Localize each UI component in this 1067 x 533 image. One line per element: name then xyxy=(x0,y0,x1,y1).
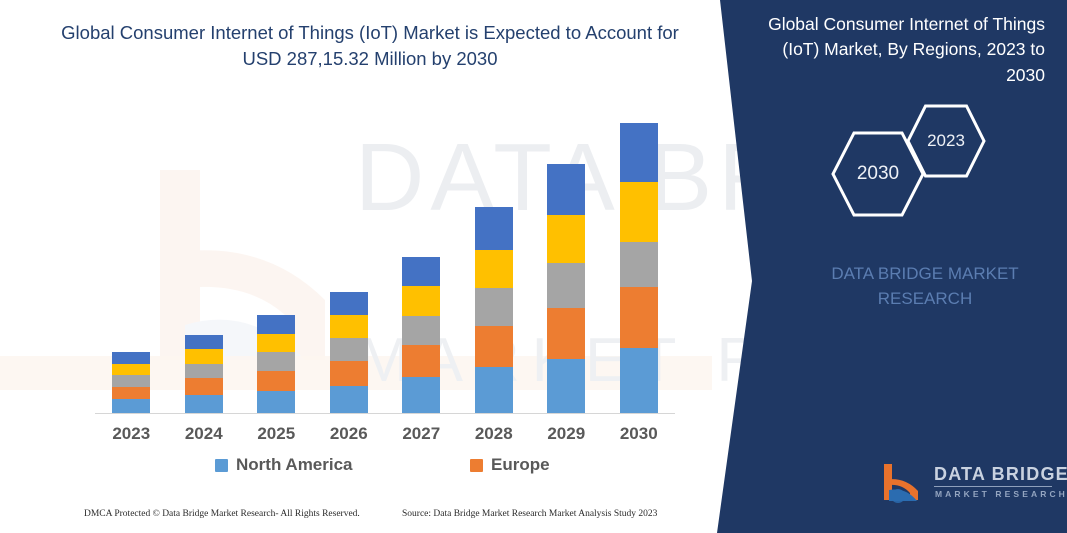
legend-label: North America xyxy=(236,455,353,475)
x-axis-label-2023: 2023 xyxy=(93,424,169,444)
x-axis-label-2030: 2030 xyxy=(601,424,677,444)
legend-label: Europe xyxy=(491,455,550,475)
logo-title: DATA BRIDGE xyxy=(934,464,1067,485)
bar-2025[interactable] xyxy=(257,315,295,413)
bar-segment xyxy=(620,242,658,287)
bar-segment xyxy=(185,364,223,379)
chart-title: Global Consumer Internet of Things (IoT)… xyxy=(60,20,680,73)
bar-2029[interactable] xyxy=(547,164,585,413)
bar-segment xyxy=(185,395,223,413)
x-axis-label-2028: 2028 xyxy=(456,424,532,444)
bar-segment xyxy=(185,378,223,395)
logo-divider xyxy=(934,486,1052,487)
bar-segment xyxy=(475,250,513,289)
panel-title: Global Consumer Internet of Things (IoT)… xyxy=(745,12,1045,88)
bar-segment xyxy=(547,308,585,358)
bar-segment xyxy=(185,335,223,350)
bar-segment xyxy=(112,399,150,413)
bar-segment xyxy=(547,263,585,308)
bar-2027[interactable] xyxy=(402,257,440,413)
bar-segment xyxy=(185,349,223,364)
bar-2030[interactable] xyxy=(620,123,658,413)
legend-swatch-icon xyxy=(470,459,483,472)
hexagon-2023-label: 2023 xyxy=(927,131,965,151)
panel-brand-text: DATA BRIDGE MARKET RESEARCH xyxy=(800,262,1050,311)
x-axis-label-2029: 2029 xyxy=(528,424,604,444)
x-axis-label-2027: 2027 xyxy=(383,424,459,444)
panel-brand-line-2: RESEARCH xyxy=(800,287,1050,312)
bar-segment xyxy=(475,288,513,326)
x-axis-label-2026: 2026 xyxy=(311,424,387,444)
x-axis-label-2024: 2024 xyxy=(166,424,242,444)
infographic-slide: DATA BRIDGE MARKET RESEARCH Global Consu… xyxy=(0,0,1067,533)
bar-segment xyxy=(112,364,150,376)
legend-item-europe[interactable]: Europe xyxy=(470,455,550,475)
bar-2024[interactable] xyxy=(185,335,223,413)
bar-segment xyxy=(547,359,585,413)
x-axis-labels: 20232024202520262027202820292030 xyxy=(95,424,675,452)
chart-legend: North AmericaEurope xyxy=(95,455,675,481)
bar-segment xyxy=(547,164,585,215)
bar-segment xyxy=(402,286,440,315)
bar-2028[interactable] xyxy=(475,207,513,413)
legend-swatch-icon xyxy=(215,459,228,472)
chart-plot-area xyxy=(95,100,675,414)
bar-segment xyxy=(257,334,295,353)
bar-segment xyxy=(330,386,368,413)
legend-item-north-america[interactable]: North America xyxy=(215,455,353,475)
bar-segment xyxy=(257,371,295,391)
bar-segment xyxy=(112,387,150,400)
bar-segment xyxy=(112,352,150,364)
bar-segment xyxy=(547,215,585,263)
bar-segment xyxy=(257,352,295,371)
company-logo: DATA BRIDGE MARKET RESEARCH xyxy=(878,458,1058,510)
bar-segment xyxy=(475,326,513,367)
bar-2026[interactable] xyxy=(330,292,368,413)
x-axis-line xyxy=(95,413,675,414)
bar-segment xyxy=(402,377,440,413)
hexagon-2030-label: 2030 xyxy=(857,163,899,185)
hexagon-group: 2023 2030 xyxy=(820,100,1030,220)
bar-segment xyxy=(330,361,368,386)
bar-segment xyxy=(257,315,295,334)
bar-2023[interactable] xyxy=(112,352,150,413)
bar-segment xyxy=(620,287,658,348)
bar-segment xyxy=(330,292,368,315)
bar-segment xyxy=(112,375,150,387)
logo-subtitle: MARKET RESEARCH xyxy=(935,489,1067,499)
bar-segment xyxy=(257,391,295,413)
bar-segment xyxy=(620,182,658,243)
bar-segment xyxy=(620,348,658,413)
bar-segment xyxy=(330,315,368,338)
panel-brand-line-1: DATA BRIDGE MARKET xyxy=(800,262,1050,287)
bar-segment xyxy=(402,345,440,377)
bar-segment xyxy=(475,367,513,413)
bar-segment xyxy=(330,338,368,361)
footer-copyright: DMCA Protected © Data Bridge Market Rese… xyxy=(84,509,360,519)
data-bridge-logo-icon xyxy=(878,460,926,506)
bar-segment xyxy=(402,316,440,345)
bar-segment xyxy=(402,257,440,286)
bar-segment xyxy=(475,207,513,250)
hexagon-2030: 2030 xyxy=(830,130,926,218)
footer-source: Source: Data Bridge Market Research Mark… xyxy=(402,509,657,519)
x-axis-label-2025: 2025 xyxy=(238,424,314,444)
bar-segment xyxy=(620,123,658,182)
